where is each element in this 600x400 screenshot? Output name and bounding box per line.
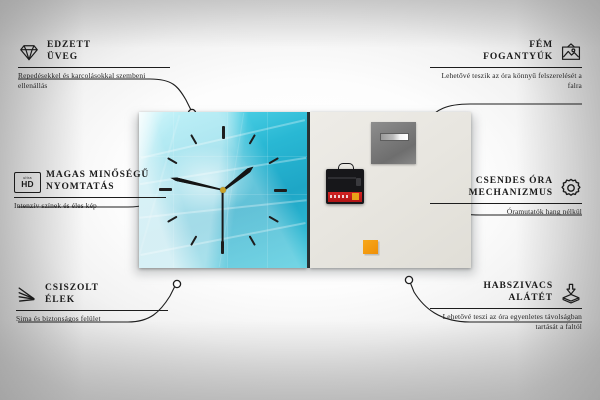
battery-label [328,192,362,202]
callout-foam-pad: HABSZIVACS ALÁTÉT Lehetővé teszi az óra … [430,281,582,333]
callout-description: Óramutatók hang nélkül [430,207,582,217]
callout-metal-handles: FÉM FOGANTYÚK Lehetővé teszik az óra kön… [430,40,582,92]
callout-title: FÉM FOGANTYÚK [483,40,553,63]
mechanism-knob [356,178,361,186]
callout-title: CSISZOLT ÉLEK [45,283,99,306]
callout-silent-mechanism: CSENDES ÓRA MECHANIZMUS Óramutatók hang … [430,176,582,217]
diamond-icon [18,41,40,63]
foam-pad-arrow-icon [560,282,582,304]
picture-hanger-icon [560,41,582,63]
clock-second-hand [222,190,224,248]
gear-icon [560,177,582,199]
callout-title: EDZETT ÜVEG [47,40,91,63]
clock-mechanism [326,169,364,204]
callout-description: Lehetővé teszi az óra egyenletes távolsá… [430,312,582,332]
callout-divider [16,310,168,311]
foam-pad [363,240,378,254]
infographic-canvas: EDZETT ÜVEG Repedésekkel és karcolásokka… [0,0,600,400]
callout-divider [430,203,582,204]
product-image [139,112,471,268]
callout-high-quality-print: ultra HD MAGAS MINŐSÉGŰ NYOMTATÁS Intenz… [14,170,166,211]
callout-title: MAGAS MINŐSÉGŰ NYOMTATÁS [46,170,149,193]
callout-polished-edges: CSISZOLT ÉLEK Sima és biztonságos felüle… [16,283,168,324]
metal-hanger-plate [371,122,416,164]
callout-tempered-glass: EDZETT ÜVEG Repedésekkel és karcolásokka… [18,40,170,92]
polished-edges-icon [16,284,38,306]
callout-description: Intenzív színek és éles kép [14,201,166,211]
mechanism-detail [328,177,356,179]
ultra-hd-badge-icon: ultra HD [14,172,39,191]
callout-title: HABSZIVACS ALÁTÉT [483,281,553,304]
callout-title: CSENDES ÓRA MECHANIZMUS [469,176,553,199]
callout-divider [14,197,166,198]
clock-center-cap [220,187,226,193]
callout-divider [18,67,170,68]
callout-description: Lehetővé teszik az óra könnyű felszerelé… [430,71,582,91]
callout-divider [430,67,582,68]
hanger-slot [380,133,409,141]
callout-description: Repedésekkel és karcolásokkal szembeni e… [18,71,170,91]
callout-divider [430,308,582,309]
callout-description: Sima és biztonságos felület [16,314,168,324]
mechanism-hook [338,163,354,171]
